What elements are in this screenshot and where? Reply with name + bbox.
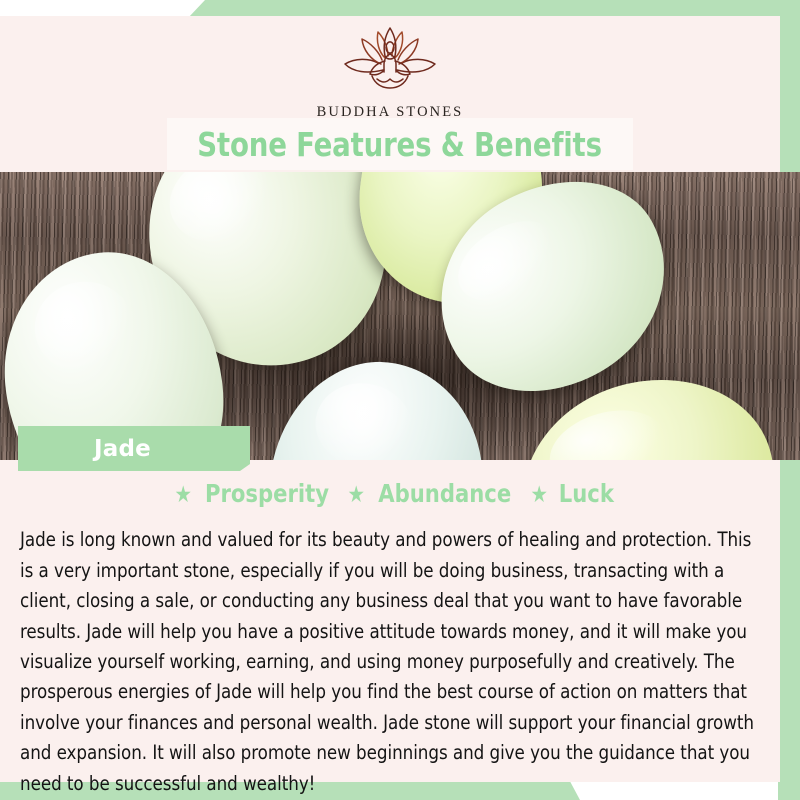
brand-logo: BUDDHA STONES [0, 24, 780, 121]
stone-description: Jade is long known and valued for its be… [20, 525, 755, 799]
star-icon: ★ [531, 482, 548, 508]
keyword-row: ★ Prosperity ★ Abundance ★ Luck [0, 479, 780, 508]
page-title: Stone Features & Benefits [198, 125, 603, 164]
lotus-meditation-icon [325, 24, 455, 96]
infographic-page: BUDDHA STONES Stone Features & Benefits … [0, 0, 800, 800]
keyword-prosperity: Prosperity [205, 479, 329, 508]
star-icon: ★ [175, 482, 192, 508]
stone-name-badge: Jade [18, 426, 250, 471]
section-title-band: Stone Features & Benefits [167, 118, 633, 170]
star-icon: ★ [348, 482, 365, 508]
stone-name-label: Jade [94, 436, 151, 462]
keyword-luck: Luck [559, 479, 614, 508]
jade-stones-photo [0, 172, 800, 460]
keyword-abundance: Abundance [379, 479, 512, 508]
